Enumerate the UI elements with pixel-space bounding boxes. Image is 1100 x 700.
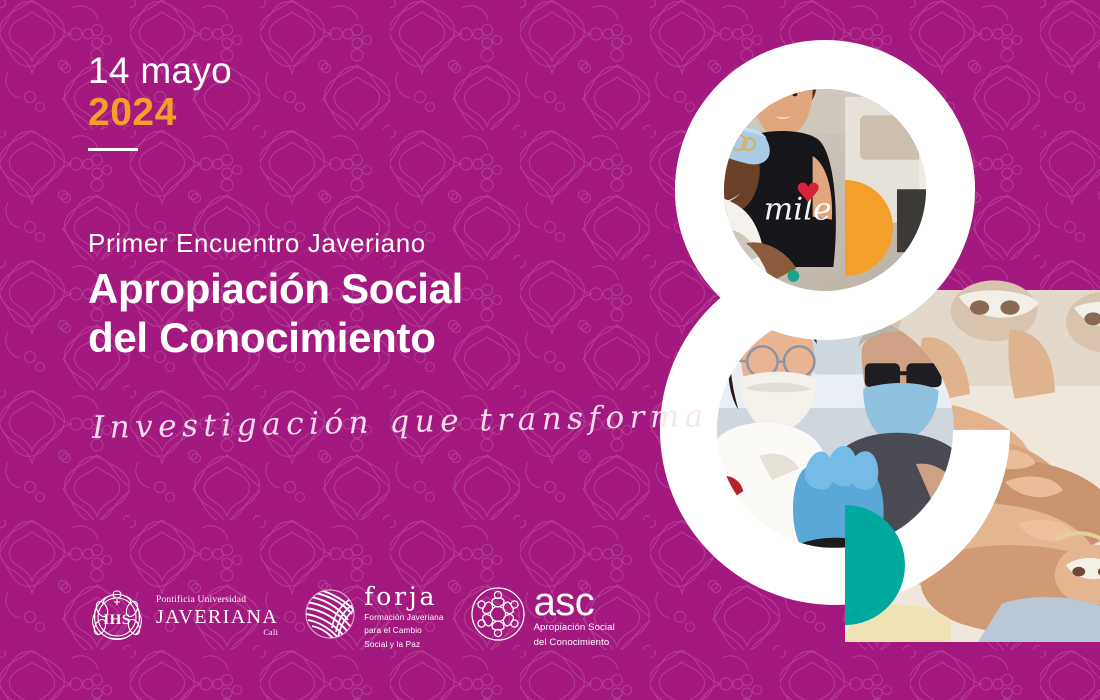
- headline-line-2: del Conocimiento: [88, 314, 463, 363]
- event-date: 14 mayo 2024: [88, 52, 232, 151]
- asc-sub-line-1: Apropiación Social: [534, 622, 615, 634]
- date-underline-rule: [88, 148, 138, 151]
- asc-sub-line-2: del Conocimiento: [534, 637, 615, 649]
- forja-sub-line-2: para el Cambio: [364, 625, 443, 636]
- javeriana-line-2: JAVERIANA: [156, 607, 278, 628]
- asc-people-circle-icon: [470, 586, 526, 647]
- logo-asc: asc Apropiación Social del Conocimiento: [470, 584, 615, 650]
- forja-sub-line-3: Social y la Paz: [364, 639, 443, 650]
- event-date-day: 14 mayo: [88, 52, 232, 91]
- headline-group: Primer Encuentro Javeriano Apropiación S…: [88, 228, 463, 363]
- tagline: Investigación que transforma: [92, 398, 709, 446]
- logo-forja: forja Formación Javeriana para el Cambio…: [304, 583, 443, 649]
- javeriana-ihs-crest-icon: IHS: [86, 583, 148, 650]
- asc-wordmark: asc: [534, 584, 615, 621]
- forja-sub-line-1: Formación Javeriana: [364, 612, 443, 623]
- javeriana-line-1: Pontificia Universidad: [156, 596, 278, 606]
- logo-javeriana: IHS Pontificia Universidad JAVERIANA Cal…: [86, 583, 278, 650]
- headline-kicker: Primer Encuentro Javeriano: [88, 228, 463, 259]
- headline-line-1: Apropiación Social: [88, 265, 463, 314]
- hero-graphic: mile: [660, 0, 1100, 700]
- javeriana-line-3: Cali: [156, 629, 278, 637]
- poster-canvas: mile: [0, 0, 1100, 700]
- forja-spiral-icon: [304, 588, 356, 645]
- event-date-year: 2024: [88, 91, 232, 136]
- logo-strip: IHS Pontificia Universidad JAVERIANA Cal…: [86, 583, 615, 650]
- svg-text:IHS: IHS: [103, 612, 130, 628]
- forja-wordmark: forja: [364, 583, 443, 610]
